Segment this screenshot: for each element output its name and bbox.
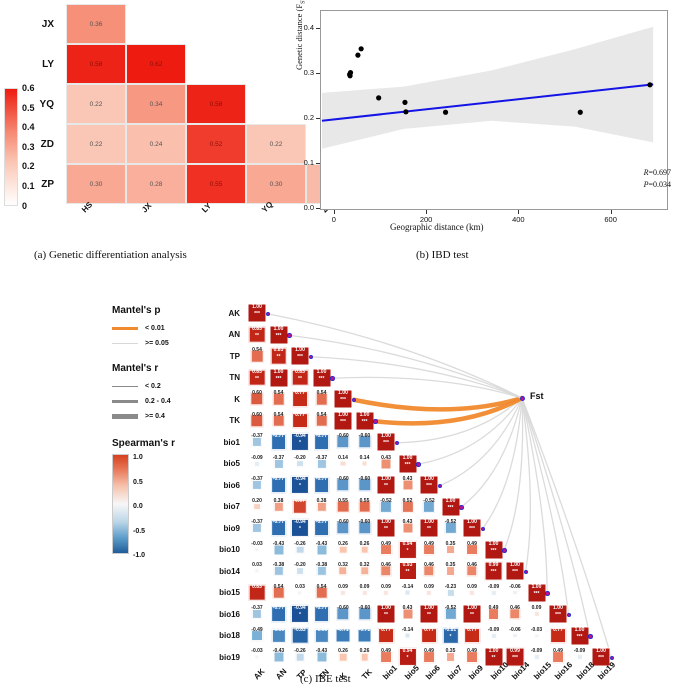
caption-panel-a: (a) Genetic differentiation analysis xyxy=(34,249,187,261)
panel-c-cell: 0.77 xyxy=(462,626,482,646)
panel-c-cell-value: -0.77 xyxy=(312,520,332,525)
panel-c-cell-value: -0.94 xyxy=(290,606,310,611)
panel-c-cell-value: -0.03 xyxy=(527,628,547,633)
panel-c-cell-value: -0.43 xyxy=(312,542,332,547)
panel-c-cell-value: 0.83 xyxy=(290,370,310,375)
panel-c-cell-value: -0.77 xyxy=(312,606,332,611)
panel-c-cell: 0.09 xyxy=(462,583,482,603)
panel-c-cell: -0.09 xyxy=(247,454,267,474)
panel-c-cell-square xyxy=(254,568,259,573)
panel-c-cell: 0.77 xyxy=(290,411,310,431)
panel-c-cell: 0.77 xyxy=(548,626,568,646)
panel-c-cell-value: 1.00 xyxy=(527,585,547,590)
panel-c-mantel-link xyxy=(461,398,522,507)
panel-c-cell-value: -0.71 xyxy=(355,628,375,633)
caption-panel-c: (c) IBE test xyxy=(300,673,351,685)
panel-a-colorbar xyxy=(4,88,18,206)
panel-c-cell: 0.49 xyxy=(376,540,396,560)
panel-c-cell-significance: * xyxy=(290,484,310,489)
panel-c-cell: 1.00*** xyxy=(312,368,332,388)
panel-a-cell: 0.34 xyxy=(126,84,186,124)
panel-c-cell: 0.43 xyxy=(398,475,418,495)
panel-c-cell: -0.77 xyxy=(269,518,289,538)
panel-c-cell-value: 1.00 xyxy=(247,305,267,310)
panel-c-cell-value: 0.60 xyxy=(247,413,267,418)
panel-b-data-point xyxy=(402,100,407,105)
panel-c-cell: -0.71 xyxy=(355,626,375,646)
panel-b-x-tick: 600 xyxy=(599,215,623,224)
panel-c-cell: -0.20 xyxy=(290,454,310,474)
panel-c-cell-value: 0.77 xyxy=(548,628,568,633)
panel-c-cell-value: -0.81 xyxy=(441,628,461,633)
panel-c-cell: 1.00*** xyxy=(290,346,310,366)
panel-c-cell: 1.00*** xyxy=(355,411,375,431)
panel-c-cell-value: -0.37 xyxy=(247,477,267,482)
panel-c-cell-value: 0.26 xyxy=(355,649,375,654)
panel-c-row-label: bio15 xyxy=(199,583,245,603)
panel-c-cell-value: -0.77 xyxy=(269,477,289,482)
panel-c-cell: 0.03 xyxy=(290,583,310,603)
panel-c-cell-value: 0.54 xyxy=(269,585,289,590)
panel-c-cell: 0.54 xyxy=(269,411,289,431)
panel-b-x-tickmark xyxy=(334,210,335,214)
panel-c-cell-value: 1.00 xyxy=(333,413,353,418)
panel-c-cell: 0.83 xyxy=(247,583,267,603)
legend-label: < 0.01 xyxy=(145,325,165,332)
panel-c-cell-significance: *** xyxy=(505,656,525,661)
panel-c-cell-significance: *** xyxy=(376,441,396,446)
panel-c-cell-value: 0.26 xyxy=(333,649,353,654)
panel-c-cell: 1.00*** xyxy=(548,604,568,624)
panel-c-cell: -0.38 xyxy=(269,561,289,581)
panel-c-cell-value: -0.71 xyxy=(333,628,353,633)
panel-c-cell-value: -0.14 xyxy=(398,585,418,590)
panel-c-cell-significance: ** xyxy=(419,527,439,532)
panel-a-genetic-differentiation: 0.60.50.40.30.20.10 0.360.580.620.220.34… xyxy=(0,0,300,240)
panel-c-cell: -0.81* xyxy=(441,626,461,646)
panel-c-cell-value: 0.77 xyxy=(462,628,482,633)
panel-b-y-tickmark xyxy=(316,163,320,164)
panel-c-cell-value: 1.00 xyxy=(290,348,310,353)
panel-c-cell: 0.60 xyxy=(247,411,267,431)
panel-b-data-point xyxy=(578,110,583,115)
panel-c-cell-value: -0.60 xyxy=(333,520,353,525)
panel-c-row-label: bio6 xyxy=(199,475,245,495)
panel-c-cell-square xyxy=(469,589,475,595)
panel-c-cell-value: -0.38 xyxy=(269,563,289,568)
panel-c-cell: 0.83** xyxy=(247,325,267,345)
panel-c-cell-significance: *** xyxy=(333,398,353,403)
panel-c-cell-significance: *** xyxy=(290,355,310,360)
panel-c-cell: 0.54 xyxy=(312,583,332,603)
panel-c-cell-value: 1.00 xyxy=(312,370,332,375)
panel-c-cell-value: -0.77 xyxy=(312,477,332,482)
panel-c-cell-value: 0.83 xyxy=(269,348,289,353)
panel-c-cell: -0.26 xyxy=(290,647,310,667)
panel-c-cell-value: 0.77 xyxy=(419,628,439,633)
spearman-colorbar-tick: -0.5 xyxy=(133,528,145,535)
panel-c-cell-value: -0.09 xyxy=(484,628,504,633)
panel-c-cell-significance: * xyxy=(441,635,461,640)
panel-c-cell-significance: *** xyxy=(527,592,547,597)
panel-c-cell-value: 1.00 xyxy=(441,499,461,504)
panel-c-cell: 0.77 xyxy=(376,626,396,646)
panel-c-cell-square xyxy=(361,589,367,595)
panel-b-data-point xyxy=(647,82,652,87)
panel-c-cell-value: 1.00 xyxy=(591,649,611,654)
panel-c-cell-square xyxy=(533,611,539,617)
panel-c-cell-square xyxy=(534,633,539,638)
panel-c-cell: 0.20 xyxy=(247,497,267,517)
panel-c-variable-node xyxy=(545,591,550,596)
panel-c-cell: 0.54 xyxy=(247,346,267,366)
caption-panel-b: (b) IBD test xyxy=(416,249,469,261)
panel-c-cell-value: 0.20 xyxy=(247,499,267,504)
panel-c-cell-value: 0.49 xyxy=(419,649,439,654)
panel-c-cell: 0.43 xyxy=(376,454,396,474)
panel-c-cell: 0.35 xyxy=(441,561,461,581)
panel-b-scatter-svg xyxy=(321,11,667,209)
panel-c-cell-significance: ** xyxy=(269,355,289,360)
panel-c-cell-value: 1.00 xyxy=(484,542,504,547)
panel-c-cell-value: 1.00 xyxy=(269,327,289,332)
panel-c-cell-value: -0.43 xyxy=(269,649,289,654)
panel-c-cell: 0.14 xyxy=(355,454,375,474)
panel-c-cell-value: 0.09 xyxy=(527,606,547,611)
panel-c-cell-value: 1.00 xyxy=(462,520,482,525)
panel-b-y-tickmark xyxy=(316,208,320,209)
panel-c-cell: -0.94* xyxy=(290,475,310,495)
panel-c-cell: 0.60 xyxy=(247,389,267,409)
fst-node-label: Fst xyxy=(530,391,544,401)
panel-c-cell-significance: *** xyxy=(269,334,289,339)
panel-c-cell: -0.66 xyxy=(312,626,332,646)
panel-c-cell-value: 0.43 xyxy=(398,606,418,611)
panel-c-variable-node xyxy=(459,505,464,510)
panel-c-cell-value: 0.09 xyxy=(419,585,439,590)
panel-c-cell: 0.32 xyxy=(333,561,353,581)
panel-c-cell: 0.38 xyxy=(269,497,289,517)
panel-c-cell-value: -0.37 xyxy=(269,456,289,461)
panel-c-cell-value: -0.14 xyxy=(398,628,418,633)
panel-c-cell: 0.46 xyxy=(462,561,482,581)
panel-c-cell-value: 1.00 xyxy=(505,563,525,568)
panel-c-cell: -0.03 xyxy=(527,626,547,646)
panel-c-cell: -0.60 xyxy=(333,518,353,538)
panel-c-cell-value: -0.77 xyxy=(269,606,289,611)
panel-c-cell: -0.20 xyxy=(290,561,310,581)
legend-label: >= 0.05 xyxy=(145,340,169,347)
panel-b-y-axis-label: Genetic distance (FST) xyxy=(294,0,307,70)
panel-c-cell-value: -0.37 xyxy=(247,520,267,525)
panel-c-cell-value: 0.43 xyxy=(398,520,418,525)
panel-c-cell: -0.37 xyxy=(247,604,267,624)
panel-c-cell-value: -0.60 xyxy=(355,520,375,525)
panel-c-variable-node xyxy=(373,419,378,424)
panel-c-cell: -0.43 xyxy=(269,647,289,667)
panel-c-cell: 1.00*** xyxy=(419,475,439,495)
panel-c-cell-value: -0.20 xyxy=(290,563,310,568)
panel-a-cell: 0.62 xyxy=(126,44,186,84)
panel-c-cell-value: 1.00 xyxy=(376,434,396,439)
panel-c-row-label: bio19 xyxy=(199,647,245,667)
panel-c-cell: 1.00** xyxy=(419,518,439,538)
panel-c-cell: -0.37 xyxy=(247,475,267,495)
panel-c-cell: 1.00*** xyxy=(376,432,396,452)
panel-a-cell: 0.55 xyxy=(186,164,246,204)
panel-c-cell: 0.46 xyxy=(505,604,525,624)
panel-c-row-label: K xyxy=(199,389,245,409)
panel-c-cell-value: -0.52 xyxy=(441,606,461,611)
panel-c-cell-value: -0.60 xyxy=(355,606,375,611)
legend-line-swatch xyxy=(112,400,138,403)
panel-c-cell-square xyxy=(254,547,259,552)
panel-c-cell-value: -0.37 xyxy=(312,456,332,461)
panel-c-cell: 0.54 xyxy=(312,411,332,431)
panel-c-cell-square xyxy=(404,589,411,596)
panel-c-cell: -0.77 xyxy=(269,432,289,452)
panel-c-cell-value: 0.55 xyxy=(355,499,375,504)
panel-c-cell: 1.00** xyxy=(462,604,482,624)
panel-c-cell: 0.09 xyxy=(419,583,439,603)
panel-c-cell-value: 0.54 xyxy=(247,348,267,353)
panel-c-cell: -0.77 xyxy=(312,604,332,624)
panel-c-cell-value: 1.00 xyxy=(398,456,418,461)
panel-c-cell: 0.46 xyxy=(419,561,439,581)
panel-c-cell-value: 0.03 xyxy=(247,563,267,568)
panel-c-cell-significance: ** xyxy=(247,334,267,339)
panel-c-cell-value: 0.54 xyxy=(269,413,289,418)
panel-b-y-tickmark xyxy=(316,118,320,119)
panel-a-row-label: ZD xyxy=(20,124,60,164)
panel-c-cell: 0.32 xyxy=(355,561,375,581)
panel-a-row-label: JX xyxy=(20,4,60,44)
panel-c-cell-value: 1.00 xyxy=(419,606,439,611)
panel-c-cell: -0.14 xyxy=(398,583,418,603)
panel-c-cell-value: 0.46 xyxy=(376,563,396,568)
panel-c-cell-value: 0.09 xyxy=(376,585,396,590)
panel-c-cell: 0.83** xyxy=(247,368,267,388)
panel-c-cell-value: 1.00 xyxy=(269,370,289,375)
panel-c-cell-value: -0.52 xyxy=(419,499,439,504)
panel-c-cell-value: -0.66 xyxy=(269,628,289,633)
panel-c-cell: 0.52 xyxy=(398,497,418,517)
spearman-colorbar xyxy=(112,454,129,554)
panel-c-cell-value: 0.43 xyxy=(376,456,396,461)
panel-c-cell-value: 0.46 xyxy=(419,563,439,568)
panel-c-cell: 0.93** xyxy=(398,561,418,581)
panel-c-cell-value: 0.99 xyxy=(484,563,504,568)
panel-c-cell-value: -0.09 xyxy=(527,649,547,654)
panel-c-cell-square xyxy=(446,588,454,596)
panel-c-cell-significance: *** xyxy=(441,506,461,511)
panel-c-cell-value: -0.43 xyxy=(269,542,289,547)
panel-c-cell: 0.35 xyxy=(441,540,461,560)
panel-c-cell-square xyxy=(426,589,432,595)
panel-c-cell-significance: *** xyxy=(419,484,439,489)
panel-c-cell-significance: * xyxy=(290,527,310,532)
panel-c-cell: -0.77 xyxy=(312,432,332,452)
panel-c-cell-value: 0.32 xyxy=(333,563,353,568)
legend-line-swatch xyxy=(112,327,138,330)
panel-c-cell-value: 0.35 xyxy=(441,649,461,654)
panel-b-y-tick: 0.2 xyxy=(292,113,314,122)
panel-c-cell: -0.60 xyxy=(355,518,375,538)
panel-c-cell-significance: *** xyxy=(312,377,332,382)
spearman-colorbar-tick: 1.0 xyxy=(133,454,143,461)
panel-c-cell-significance: ** xyxy=(376,527,396,532)
panel-c-cell: -0.26 xyxy=(290,540,310,560)
panel-c-cell-value: 0.49 xyxy=(462,542,482,547)
panel-c-cell-value: -0.94 xyxy=(290,434,310,439)
panel-c-cell-value: 0.32 xyxy=(355,563,375,568)
panel-c-cell-square xyxy=(340,460,347,467)
panel-c-cell: -0.37 xyxy=(312,454,332,474)
panel-c-cell: 0.26 xyxy=(355,540,375,560)
panel-c-variable-node xyxy=(588,634,593,639)
panel-b-x-tick: 0 xyxy=(322,215,346,224)
panel-c-cell-value: 0.77 xyxy=(290,413,310,418)
panel-a-row-label: LY xyxy=(20,44,60,84)
panel-c-cell-value: -0.09 xyxy=(484,585,504,590)
panel-a-row-label: ZP xyxy=(20,164,60,204)
panel-c-cell: 0.26 xyxy=(355,647,375,667)
panel-c-row-label: bio1 xyxy=(199,432,245,452)
panel-c-cell-significance: *** xyxy=(548,613,568,618)
panel-c-row-label: bio18 xyxy=(199,626,245,646)
panel-c-row-label: bio7 xyxy=(199,497,245,517)
panel-c-cell-square xyxy=(490,632,496,638)
panel-c-cell-value: 0.54 xyxy=(312,391,332,396)
panel-c-cell-significance: ** xyxy=(247,377,267,382)
panel-c-cell-square xyxy=(296,460,304,468)
panel-c-cell-significance: *** xyxy=(484,549,504,554)
panel-c-cell-value: 0.38 xyxy=(312,499,332,504)
panel-c-cell-value: 0.26 xyxy=(333,542,353,547)
panel-c-cell: 0.09 xyxy=(355,583,375,603)
panel-c-cell: -0.03 xyxy=(247,647,267,667)
panel-c-cell-square xyxy=(254,460,260,466)
panel-c-cell-significance: ** xyxy=(376,484,396,489)
panel-c-row-label: TN xyxy=(199,368,245,388)
panel-c-cell-value: -0.37 xyxy=(247,606,267,611)
panel-c-cell-value: 0.38 xyxy=(269,499,289,504)
panel-c-cell-value: 0.54 xyxy=(269,391,289,396)
fst-node-marker xyxy=(520,396,525,401)
panel-c-cell: -0.43 xyxy=(312,647,332,667)
panel-c-cell: 0.77 xyxy=(290,389,310,409)
panel-c-cell-square xyxy=(512,633,518,639)
panel-c-cell-value: -0.77 xyxy=(269,520,289,525)
panel-c-cell-value: -0.83 xyxy=(290,628,310,633)
panel-c-cell: -0.14 xyxy=(398,626,418,646)
panel-c-cell: 0.09 xyxy=(333,583,353,603)
panel-c-cell-value: 0.49 xyxy=(462,649,482,654)
legend-label: 0.2 - 0.4 xyxy=(145,398,171,405)
legend-line-swatch xyxy=(112,343,138,344)
panel-c-cell-significance: * xyxy=(290,613,310,618)
panel-c-cell: 0.99*** xyxy=(484,561,504,581)
panel-c-cell-value: 1.00 xyxy=(484,649,504,654)
panel-c-cell: 0.43 xyxy=(398,518,418,538)
panel-c-variable-node xyxy=(416,462,421,467)
panel-c-cell: 0.67 xyxy=(290,497,310,517)
panel-c-cell: -0.52 xyxy=(441,604,461,624)
panel-c-cell-square xyxy=(340,589,346,595)
panel-c-cell-square xyxy=(383,589,389,595)
panel-b-stat-r: R=0.697 xyxy=(644,168,671,177)
panel-c-cell: -0.38 xyxy=(312,561,332,581)
legend-line-swatch xyxy=(112,386,138,387)
panel-b-y-tick: 0.1 xyxy=(292,158,314,167)
legend-line-swatch xyxy=(112,414,138,418)
panel-c-cell: 0.26 xyxy=(333,647,353,667)
panel-c-cell: -0.60 xyxy=(333,432,353,452)
panel-c-cell-square xyxy=(254,654,259,659)
panel-c-cell-value: 0.54 xyxy=(312,585,332,590)
panel-c-cell: 0.03 xyxy=(247,561,267,581)
panel-c-cell-value: 0.93 xyxy=(398,563,418,568)
panel-c-cell: -0.94* xyxy=(290,518,310,538)
panel-c-cell: 1.00*** xyxy=(484,540,504,560)
panel-c-cell-value: -0.52 xyxy=(441,520,461,525)
panel-a-cell: 0.30 xyxy=(246,164,306,204)
panel-c-cell: -0.94* xyxy=(290,432,310,452)
panel-b-stat-p: P=0.034 xyxy=(644,180,671,189)
panel-c-cell: 0.54 xyxy=(312,389,332,409)
panel-c-cell-value: 0.83 xyxy=(247,327,267,332)
panel-b-data-point xyxy=(403,109,408,114)
panel-c-cell-value: 0.46 xyxy=(505,606,525,611)
panel-c-cell: -0.43 xyxy=(312,540,332,560)
panel-c-cell: 0.09 xyxy=(376,583,396,603)
panel-c-cell-value: -0.26 xyxy=(290,649,310,654)
panel-c-cell: -0.49 xyxy=(247,626,267,646)
panel-a-cell: 0.58 xyxy=(66,44,126,84)
panel-c-cell: -0.23 xyxy=(441,583,461,603)
panel-c-cell-value: 0.09 xyxy=(462,585,482,590)
panel-c-cell-value: 0.03 xyxy=(290,585,310,590)
panel-c-cell-significance: * xyxy=(398,656,418,661)
panel-c-row-label: bio16 xyxy=(199,604,245,624)
panel-c-row-label: TK xyxy=(199,411,245,431)
panel-c-cell-value: 0.43 xyxy=(398,477,418,482)
panel-c-cell: -0.77 xyxy=(312,475,332,495)
panel-c-cell-significance: ** xyxy=(376,613,396,618)
panel-c-variable-node xyxy=(287,333,292,338)
panel-c-row-label: TP xyxy=(199,346,245,366)
panel-c-cell: -0.37 xyxy=(247,518,267,538)
panel-c-cell: -0.60 xyxy=(355,432,375,452)
panel-c-cell: -0.60 xyxy=(333,604,353,624)
panel-c-cell-square xyxy=(296,567,304,575)
panel-c-cell-value: -0.77 xyxy=(312,434,332,439)
panel-c-cell: 1.00** xyxy=(376,604,396,624)
panel-c-cell-significance: *** xyxy=(484,570,504,575)
panel-c-cell: 1.00*** xyxy=(398,454,418,474)
panel-c-cell-significance: *** xyxy=(355,420,375,425)
panel-c-cell: 0.38 xyxy=(312,497,332,517)
panel-b-x-tickmark xyxy=(611,210,612,214)
panel-c-cell-square xyxy=(361,460,368,467)
panel-c-variable-node xyxy=(330,376,335,381)
panel-c-cell-significance: ** xyxy=(290,377,310,382)
panel-c-cell-significance: *** xyxy=(398,463,418,468)
panel-c-cell: 0.55 xyxy=(355,497,375,517)
panel-c-cell: -0.94* xyxy=(290,604,310,624)
panel-c-cell-significance: ** xyxy=(419,613,439,618)
panel-c-cell: -0.77 xyxy=(312,518,332,538)
